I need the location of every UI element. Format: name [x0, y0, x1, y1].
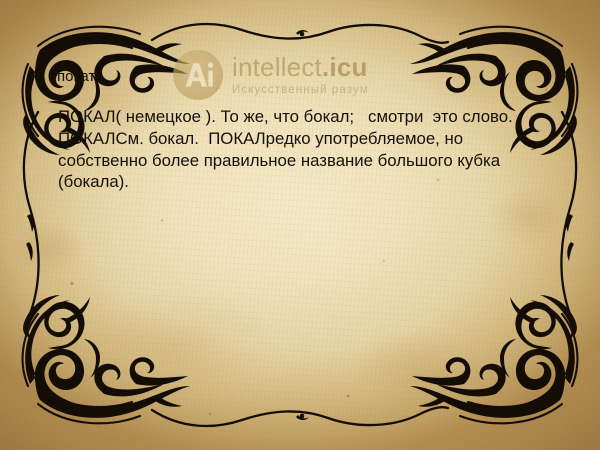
dictionary-card: intellect.icu Искусственный разум покать…: [0, 0, 600, 450]
headword: покать: [57, 68, 103, 85]
definition-text: ПОКАЛ( немецкое ). То же, что бокал; смо…: [58, 106, 520, 193]
entry-content: покать ПОКАЛ( немецкое ). То же, что бок…: [0, 0, 600, 450]
